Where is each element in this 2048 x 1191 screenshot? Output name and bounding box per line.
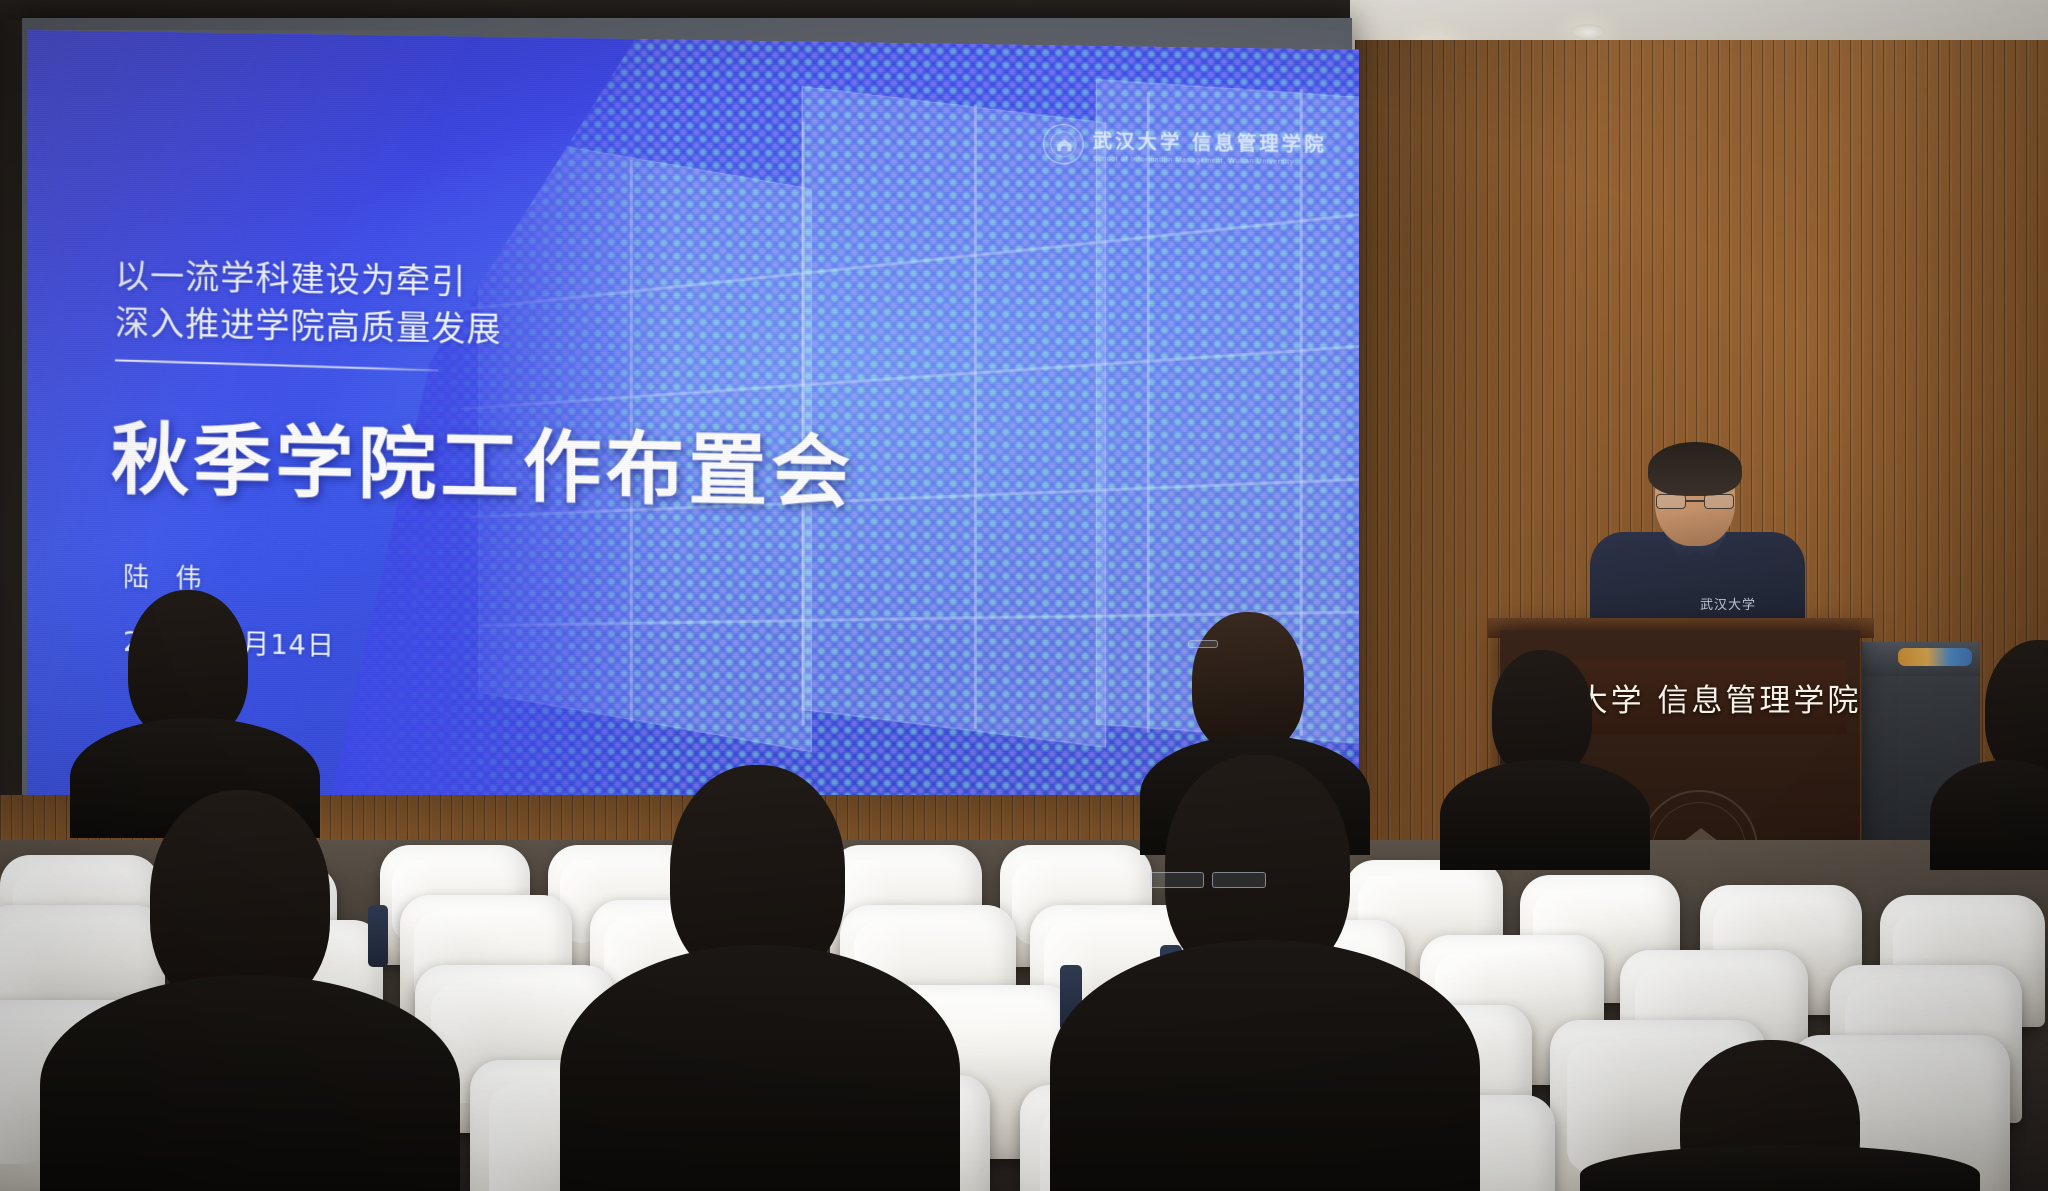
speaker-hair xyxy=(1648,442,1742,496)
slide-subtitle: 以一流学科建设为牵引 深入推进学院高质量发展 xyxy=(115,253,502,354)
lecture-hall-photo: 武汉大学 信息管理学院 School of Information Manage… xyxy=(0,0,2048,1191)
audience-shoulders xyxy=(560,945,960,1191)
audience-head xyxy=(1492,650,1592,776)
ceiling-light xyxy=(1570,24,1606,40)
desk-items xyxy=(1898,648,1972,666)
audience-glasses-icon xyxy=(1150,872,1204,888)
slide-logo: 武汉大学 信息管理学院 School of Information Manage… xyxy=(1043,124,1327,169)
slide-logo-texts: 武汉大学 信息管理学院 School of Information Manage… xyxy=(1093,126,1327,166)
slide-divider xyxy=(115,359,438,371)
audience-shoulders xyxy=(1050,940,1480,1191)
audience-glasses-icon xyxy=(1212,872,1266,888)
chair-frame xyxy=(368,905,388,967)
slide-title: 秋季学院工作布置会 xyxy=(111,397,854,523)
slide-subtitle-line1: 以一流学科建设为牵引 xyxy=(115,253,502,307)
audience-head xyxy=(1192,612,1304,752)
university-seal-icon xyxy=(1043,124,1084,165)
speaker-shirt-logo: 武汉大学 xyxy=(1700,594,1756,613)
glasses-bridge xyxy=(1686,500,1704,502)
slide-logo-cn: 武汉大学 信息管理学院 xyxy=(1093,126,1327,157)
audience-shoulders xyxy=(1440,760,1650,870)
slide-subtitle-line2: 深入推进学院高质量发展 xyxy=(115,300,502,354)
audience-shoulders xyxy=(40,975,460,1191)
slide-logo-en: School of Information Management, Wuhan … xyxy=(1093,156,1327,167)
audience-glasses-icon xyxy=(1188,640,1218,648)
glasses-lens-right xyxy=(1704,494,1734,509)
speaker-glasses-icon xyxy=(1655,494,1735,509)
glasses-lens-left xyxy=(1656,494,1686,509)
